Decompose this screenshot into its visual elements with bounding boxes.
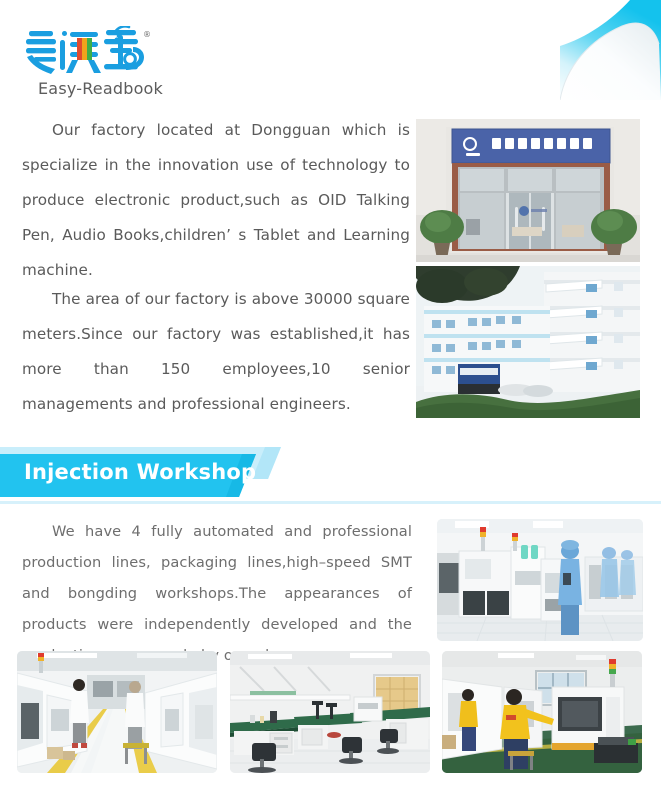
photo-smt-line[interactable] <box>17 651 217 773</box>
section-banner-injection-workshop: Injection Workshop <box>0 446 661 504</box>
factory-intro-paragraph-1: Our factory located at Dongguan which is… <box>22 113 410 288</box>
photo-assembly[interactable] <box>442 651 642 773</box>
paragraph-text: We have 4 fully automated and profession… <box>22 516 412 671</box>
brand-wordmark: Easy-Readbook <box>38 79 172 98</box>
page-curl-corner <box>560 0 661 100</box>
photo-cleanroom[interactable] <box>437 519 643 641</box>
brochure-page: ® Easy-Readbook Our factory located at D… <box>0 0 661 800</box>
injection-workshop-paragraph: We have 4 fully automated and profession… <box>22 516 412 671</box>
easy-readbook-logo-icon: ® <box>22 26 158 78</box>
paragraph-text: Our factory located at Dongguan which is… <box>22 113 410 288</box>
section-divider-line <box>0 501 661 504</box>
paragraph-text: The area of our factory is above 30000 s… <box>22 282 410 422</box>
photo-factory-entrance[interactable] <box>416 119 640 262</box>
photo-factory-building[interactable] <box>416 266 640 418</box>
brand-logo[interactable]: ® Easy-Readbook <box>22 26 172 106</box>
registered-trademark-icon: ® <box>143 30 151 39</box>
photo-lab-benches[interactable] <box>230 651 430 773</box>
section-banner-title: Injection Workshop <box>24 460 256 484</box>
factory-intro-paragraph-2: The area of our factory is above 30000 s… <box>22 282 410 422</box>
